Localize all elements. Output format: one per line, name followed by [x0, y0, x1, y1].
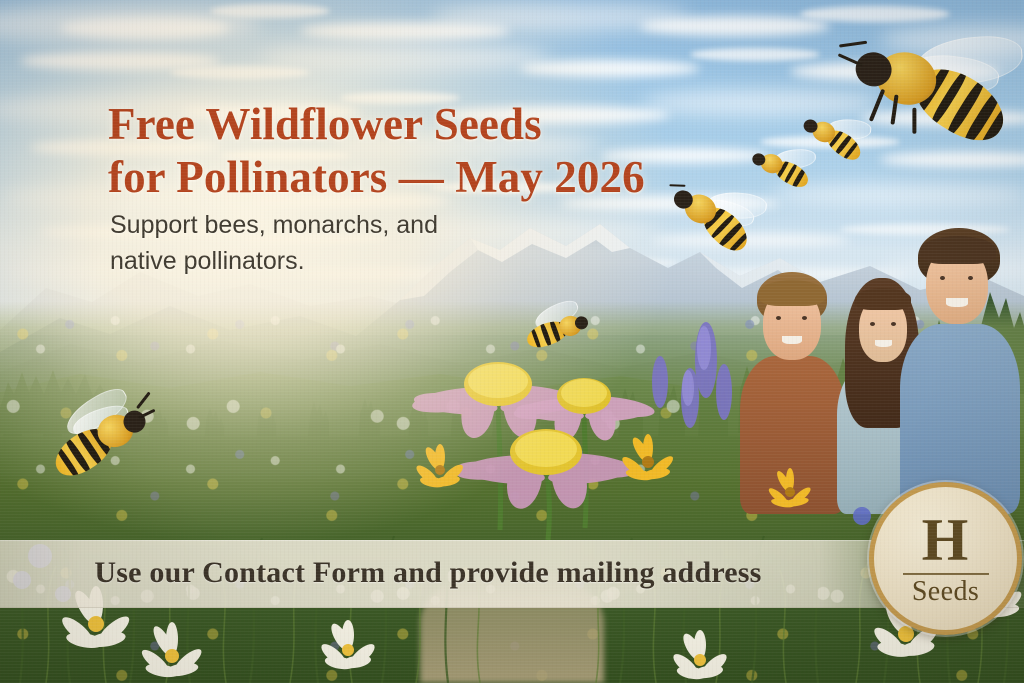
bee-head	[574, 316, 589, 331]
bee-antenna-2	[138, 409, 155, 420]
subheadline-line-2: native pollinators.	[110, 247, 305, 275]
logo-wordmark: Seeds	[912, 578, 979, 606]
headline: Free Wildflower Seeds for Pollinators — …	[108, 98, 728, 204]
bee-leg-3	[912, 108, 916, 134]
logo-monogram: H	[922, 513, 970, 568]
poster-canvas: Free Wildflower Seeds for Pollinators — …	[0, 0, 1024, 683]
bee-leg-1	[869, 89, 885, 122]
headline-line-1: Free Wildflower Seeds	[108, 99, 542, 149]
headline-line-2: for Pollinators — May 2026	[108, 151, 728, 204]
brand-logo-badge[interactable]: H Seeds	[869, 482, 1022, 635]
subheadline-line-1: Support bees, monarchs, and	[110, 211, 438, 239]
logo-divider	[903, 573, 989, 575]
call-to-action-text: Use our Contact Form and provide mailing…	[0, 540, 856, 606]
bee-meadow-center	[519, 305, 592, 358]
bee-antenna-1	[136, 392, 151, 410]
subheadline: Support bees, monarchs, and native polli…	[110, 208, 540, 279]
